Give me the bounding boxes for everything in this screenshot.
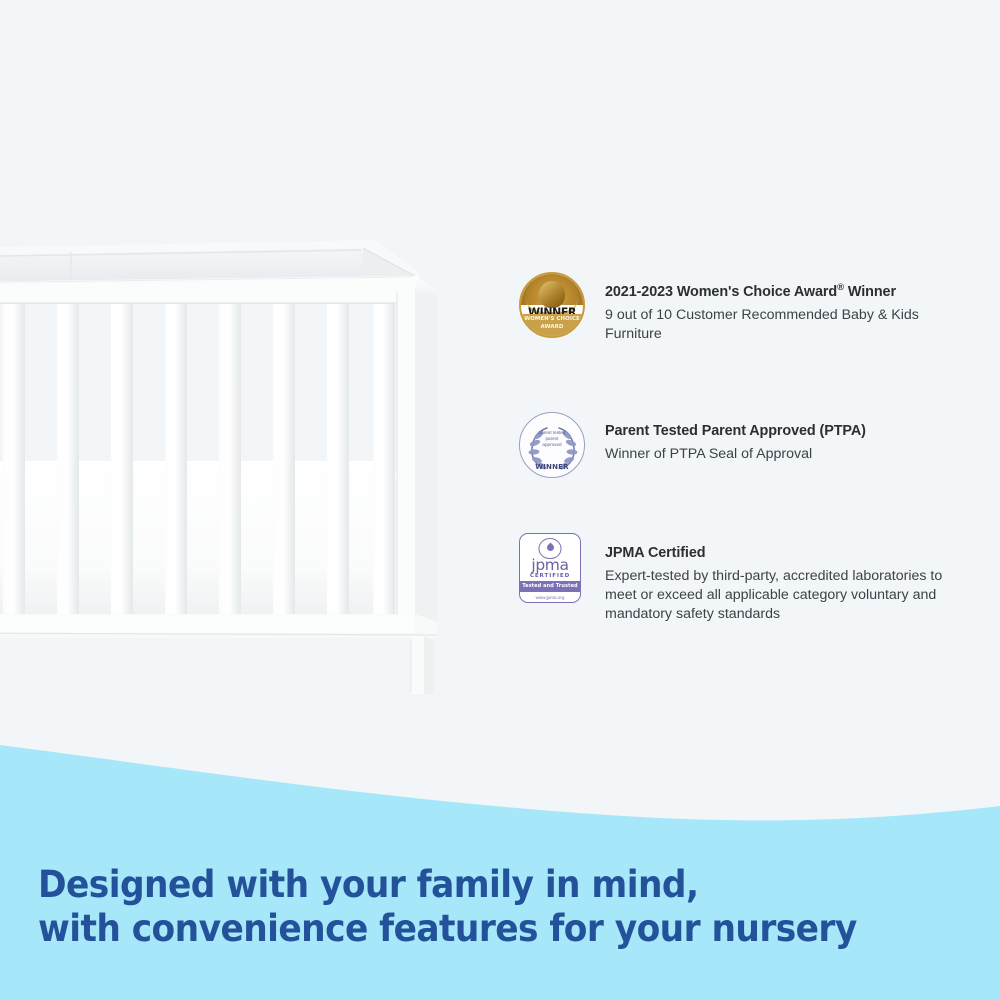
registered-mark-icon: ®: [837, 282, 844, 293]
award-text: Parent Tested Parent Approved (PTPA) Win…: [587, 412, 866, 464]
ptpa-winner-badge-icon: parent tested parent approved WINNER: [519, 412, 585, 478]
badge-cell: parent tested parent approved WINNER: [519, 412, 587, 480]
jpma-certified-label: CERTIFIED: [520, 573, 580, 579]
jpma-certified-badge-icon: jpma CERTIFIED Tested and Trusted www.jp…: [519, 533, 581, 603]
award-title-main: 2021-2023 Women's Choice Award: [605, 284, 837, 300]
womens-choice-award-badge-icon: WINNER WOMEN'S CHOICE AWARD: [519, 272, 585, 338]
badge-band-line2: AWARD: [521, 324, 583, 332]
product-feature-panel: WINNER WOMEN'S CHOICE AWARD 2021-2023 Wo…: [0, 0, 1000, 1000]
award-title: 2021-2023 Women's Choice Award® Winner: [605, 281, 949, 303]
award-text: 2021-2023 Women's Choice Award® Winner 9…: [587, 272, 949, 344]
headline-line-2: with convenience features for your nurse…: [38, 907, 857, 951]
badge-cell: WINNER WOMEN'S CHOICE AWARD: [519, 272, 587, 340]
award-description: Winner of PTPA Seal of Approval: [605, 445, 866, 464]
award-title-suffix: Winner: [848, 284, 896, 300]
award-item-ptpa: parent tested parent approved WINNER Par…: [519, 412, 949, 534]
badge-band: WOMEN'S CHOICE AWARD: [521, 314, 583, 336]
jpma-tested-trusted-band: Tested and Trusted: [520, 581, 580, 592]
award-description: Expert-tested by third-party, accredited…: [605, 567, 949, 625]
awards-list: WINNER WOMEN'S CHOICE AWARD 2021-2023 Wo…: [519, 272, 949, 644]
award-text: JPMA Certified Expert-tested by third-pa…: [587, 534, 949, 624]
award-item-jpma: jpma CERTIFIED Tested and Trusted www.jp…: [519, 534, 949, 644]
badge-cell: jpma CERTIFIED Tested and Trusted www.jp…: [519, 534, 587, 602]
crib-image: [0, 236, 465, 696]
headline-line-1: Designed with your family in mind,: [38, 863, 857, 907]
badge-winner-text: WINNER: [520, 463, 584, 471]
ptpa-logo-line2: parent approved: [536, 436, 568, 448]
ptpa-logo-text: parent tested parent approved: [536, 430, 568, 448]
award-item-womens-choice: WINNER WOMEN'S CHOICE AWARD 2021-2023 Wo…: [519, 272, 949, 412]
jpma-wordmark: jpma: [520, 558, 580, 573]
badge-band-line1: WOMEN'S CHOICE: [521, 316, 583, 324]
award-title: Parent Tested Parent Approved (PTPA): [605, 421, 866, 442]
headline: Designed with your family in mind, with …: [38, 863, 857, 951]
award-description: 9 out of 10 Customer Recommended Baby & …: [605, 306, 949, 344]
jpma-url-label: www.jpma.org: [520, 595, 580, 600]
award-title: JPMA Certified: [605, 543, 949, 564]
